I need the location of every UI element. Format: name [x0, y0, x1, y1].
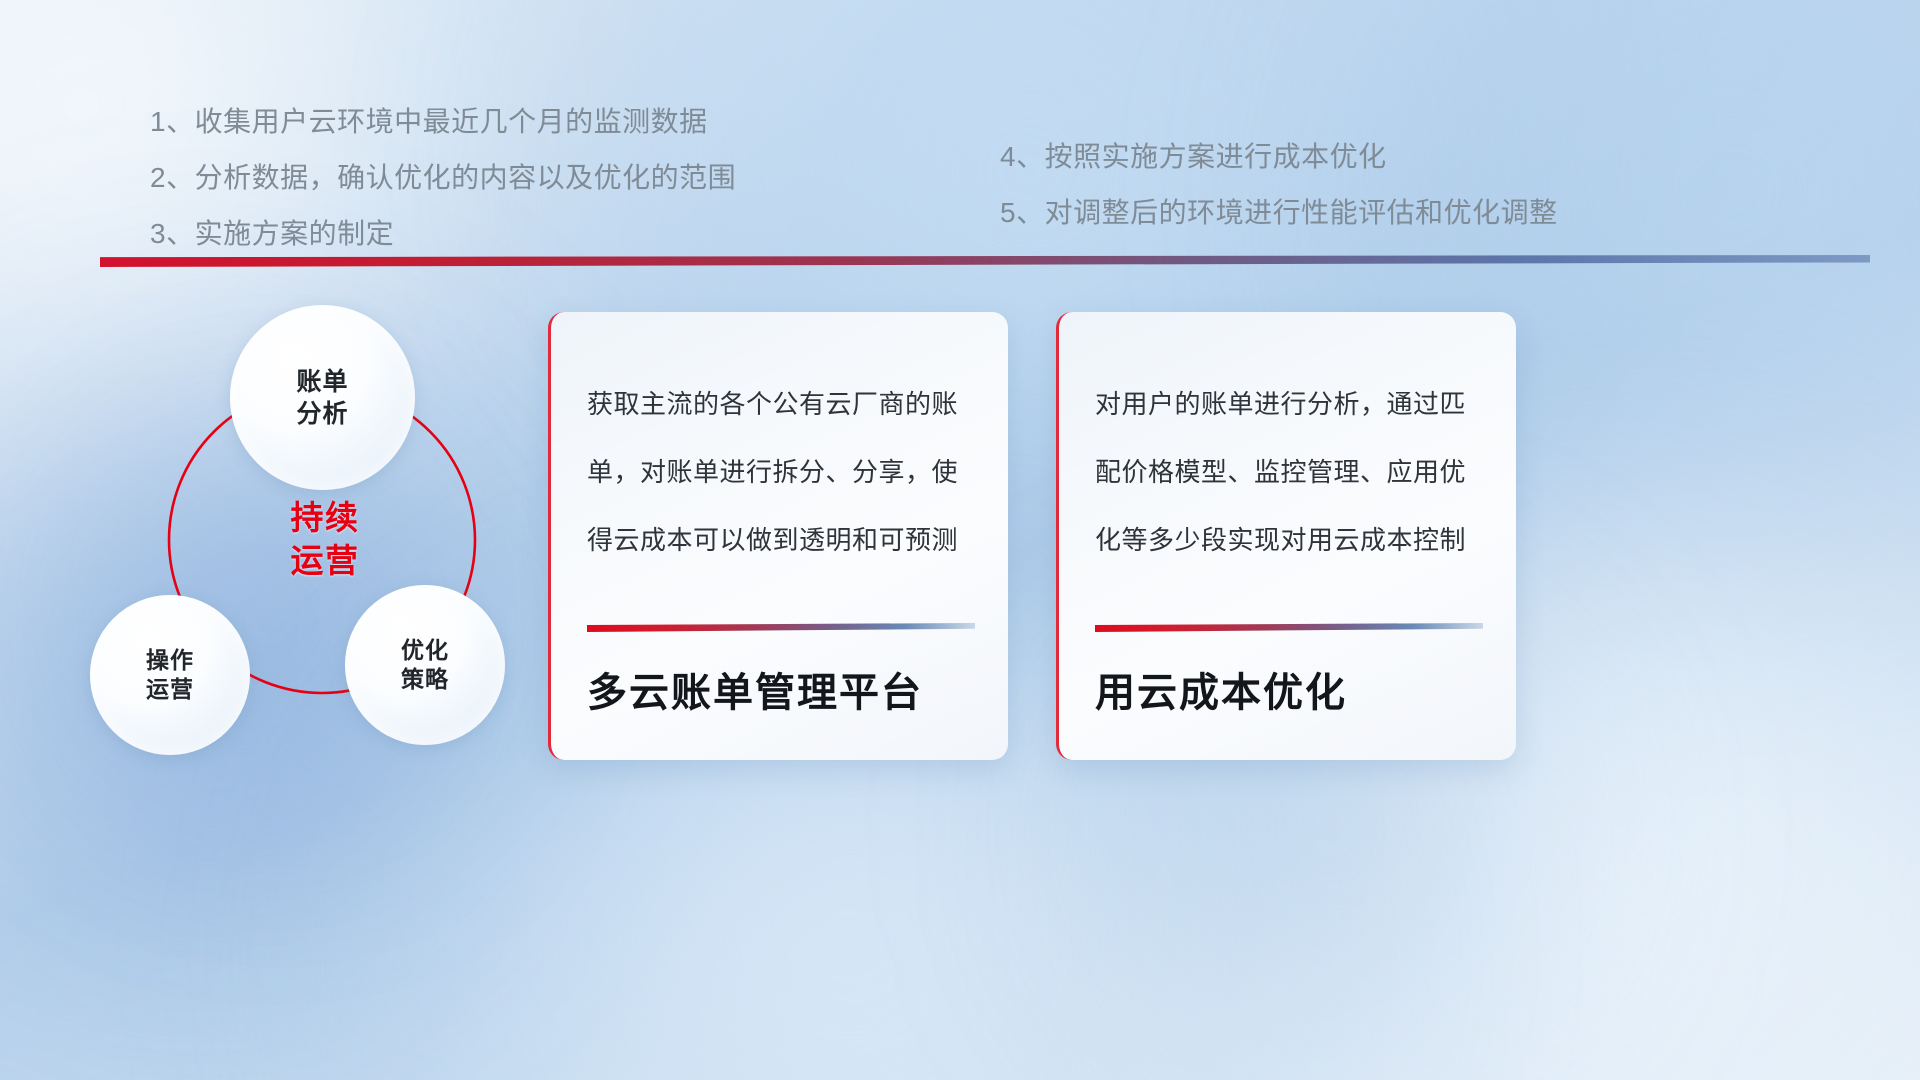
venn-node-label-line1: 操作: [146, 646, 194, 675]
venn-diagram: 账单 分析 操作 运营 优化 策略 持续 运营: [85, 290, 555, 780]
card-body-text: 对用户的账单进行分析，通过匹配价格模型、监控管理、应用优化等多少段实现对用云成本…: [1095, 370, 1482, 574]
venn-center-label-line2: 运营: [291, 540, 360, 583]
step-item-2: 2、分析数据，确认优化的内容以及优化的范围: [150, 150, 736, 206]
venn-node-optimization-strategy[interactable]: 优化 策略: [345, 585, 505, 745]
card-divider: [587, 623, 975, 632]
venn-node-label-line2: 策略: [401, 665, 449, 694]
venn-center-label-line1: 持续: [291, 497, 360, 540]
venn-node-label-line1: 优化: [401, 636, 449, 665]
venn-node-label: 操作 运营: [146, 646, 194, 705]
venn-node-operations[interactable]: 操作 运营: [90, 595, 250, 755]
step-item-1: 1、收集用户云环境中最近几个月的监测数据: [150, 94, 736, 150]
steps-column-left: 1、收集用户云环境中最近几个月的监测数据 2、分析数据，确认优化的内容以及优化的…: [150, 94, 736, 262]
step-item-4: 4、按照实施方案进行成本优化: [1000, 129, 1558, 185]
steps-column-right: 4、按照实施方案进行成本优化 5、对调整后的环境进行性能评估和优化调整: [1000, 129, 1558, 241]
card-title: 用云成本优化: [1095, 660, 1347, 718]
feature-cards: 获取主流的各个公有云厂商的账单，对账单进行拆分、分享，使得云成本可以做到透明和可…: [548, 312, 1516, 760]
card-body-text: 获取主流的各个公有云厂商的账单，对账单进行拆分、分享，使得云成本可以做到透明和可…: [587, 370, 974, 574]
venn-node-label-line1: 账单: [296, 366, 348, 398]
venn-node-label-line2: 运营: [146, 675, 194, 704]
venn-node-label: 账单 分析: [296, 366, 348, 430]
venn-center-label: 持续 运营: [260, 485, 390, 595]
venn-node-billing-analysis[interactable]: 账单 分析: [230, 305, 415, 490]
step-item-5: 5、对调整后的环境进行性能评估和优化调整: [1000, 185, 1558, 241]
feature-card-cost-optimization[interactable]: 对用户的账单进行分析，通过匹配价格模型、监控管理、应用优化等多少段实现对用云成本…: [1056, 312, 1516, 760]
step-item-3: 3、实施方案的制定: [150, 206, 736, 262]
card-divider: [1095, 623, 1483, 632]
steps-list: 1、收集用户云环境中最近几个月的监测数据 2、分析数据，确认优化的内容以及优化的…: [0, 94, 1920, 254]
feature-card-multicloud-billing[interactable]: 获取主流的各个公有云厂商的账单，对账单进行拆分、分享，使得云成本可以做到透明和可…: [548, 312, 1008, 760]
section-divider-bar: [100, 255, 1870, 267]
venn-node-label-line2: 分析: [296, 398, 348, 430]
card-title: 多云账单管理平台: [587, 660, 923, 718]
venn-node-label: 优化 策略: [401, 636, 449, 695]
section-divider: [100, 255, 1870, 267]
